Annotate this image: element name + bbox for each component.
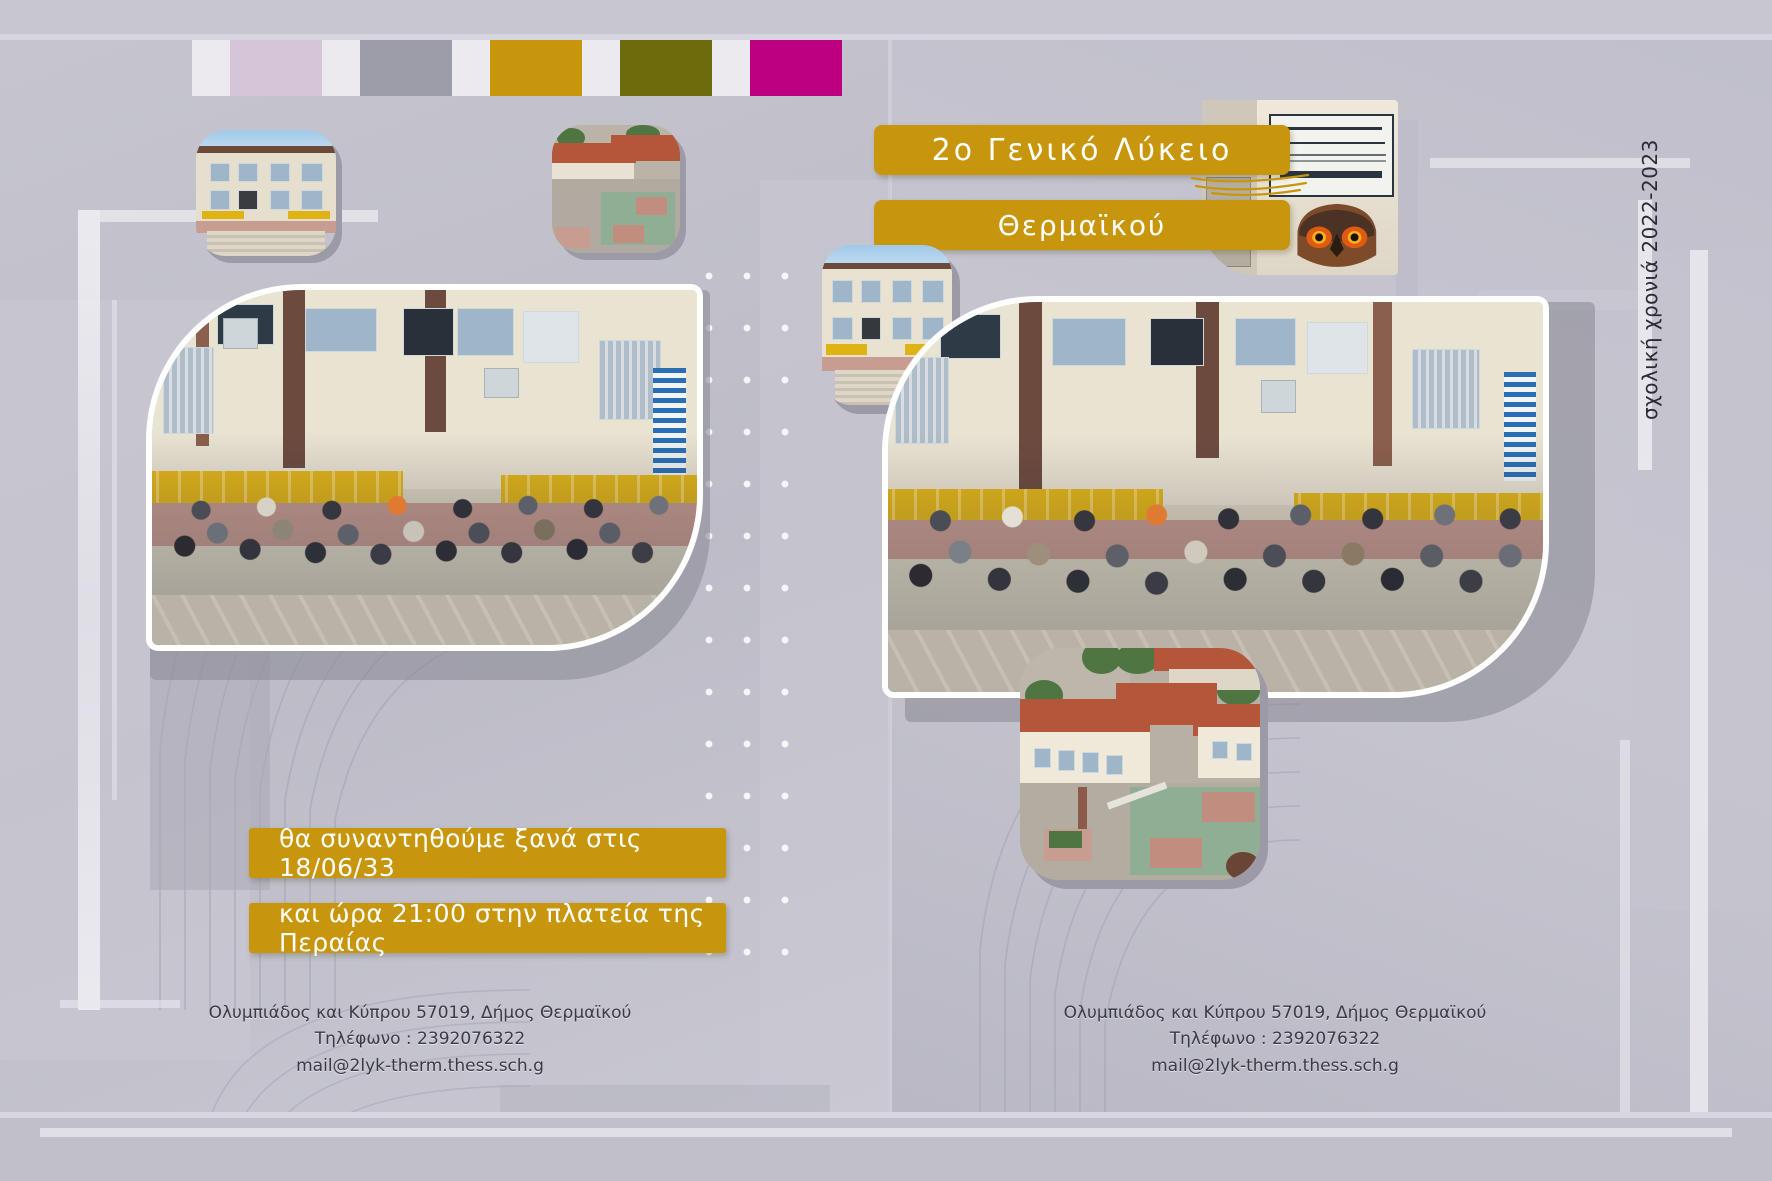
swatch-grey bbox=[360, 40, 452, 96]
photo-school-entrance-thumb bbox=[196, 130, 336, 256]
bottom-band-strip bbox=[40, 1128, 1732, 1137]
title-banner-line2: Θερμαϊκού bbox=[874, 200, 1290, 250]
reunion-date-text: θα συναντηθούμε ξανά στις 18/06/33 bbox=[279, 824, 726, 882]
swatch-olive bbox=[620, 40, 712, 96]
title-line2-text: Θερμαϊκού bbox=[998, 209, 1167, 242]
bottom-band bbox=[0, 1118, 1772, 1181]
contact-left-address: Ολυμπιάδος και Κύπρου 57019, Δήμος Θερμα… bbox=[150, 1000, 690, 1026]
contact-left-phone: Τηλέφωνο : 2392076322 bbox=[150, 1026, 690, 1052]
contact-block-right: Ολυμπιάδος και Κύπρου 57019, Δήμος Θερμα… bbox=[1005, 1000, 1545, 1079]
banner-reunion-time-place: και ώρα 21:00 στην πλατεία της Περαίας bbox=[249, 903, 726, 953]
reunion-time-place-text: και ώρα 21:00 στην πλατεία της Περαίας bbox=[279, 899, 726, 957]
photo-group-left bbox=[152, 290, 697, 645]
title-line1-text: 2ο Γενικό Λύκειο bbox=[932, 133, 1233, 168]
contact-left-email: mail@2lyk-therm.thess.sch.g bbox=[150, 1053, 690, 1079]
contact-right-email: mail@2lyk-therm.thess.sch.g bbox=[1005, 1053, 1545, 1079]
school-year-vertical-label: σχολική χρονιά 2022-2023 bbox=[1618, 120, 1662, 440]
swatch-separator bbox=[192, 40, 230, 96]
contact-block-left: Ολυμπιάδος και Κύπρου 57019, Δήμος Θερμα… bbox=[150, 1000, 690, 1079]
swatch-separator bbox=[322, 40, 360, 96]
swatch-separator bbox=[582, 40, 620, 96]
poster-canvas: 2ο Γενικό Λύκειο Θερμαϊκού σχολική χρονι… bbox=[0, 0, 1772, 1181]
swatch-mauve bbox=[230, 40, 322, 96]
school-year-text: σχολική χρονιά 2022-2023 bbox=[1638, 140, 1662, 421]
frame-line-left-2 bbox=[112, 300, 117, 800]
swatch-gold bbox=[490, 40, 582, 96]
swatch-separator bbox=[452, 40, 490, 96]
contact-right-phone: Τηλέφωνο : 2392076322 bbox=[1005, 1026, 1545, 1052]
photo-school-aerial-large bbox=[1020, 648, 1260, 880]
bg-accent-b bbox=[500, 1085, 830, 1113]
frame-line-right-2 bbox=[1620, 740, 1630, 1160]
banner-reunion-date: θα συναντηθούμε ξανά στις 18/06/33 bbox=[249, 828, 726, 878]
title-banner-line1: 2ο Γενικό Λύκειο bbox=[874, 125, 1290, 175]
photo-group-right bbox=[888, 302, 1543, 692]
owl-mural-icon bbox=[1280, 196, 1394, 275]
bottom-band-highlight bbox=[0, 1112, 1772, 1118]
swatch-magenta bbox=[750, 40, 842, 96]
contact-right-address: Ολυμπιάδος και Κύπρου 57019, Δήμος Θερμα… bbox=[1005, 1000, 1545, 1026]
photo-school-aerial-thumb bbox=[552, 125, 680, 253]
frame-line-left bbox=[78, 210, 100, 1010]
top-band bbox=[0, 0, 1772, 34]
frame-line-right bbox=[1690, 250, 1708, 1150]
swatch-separator bbox=[712, 40, 750, 96]
